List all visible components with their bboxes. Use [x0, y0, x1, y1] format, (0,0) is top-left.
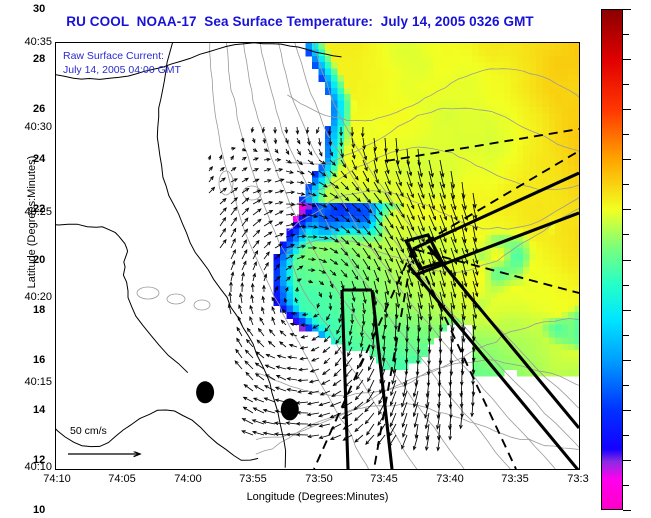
map-plot-area[interactable]: Raw Surface Current:July 14, 2005 04:00 … [55, 42, 580, 470]
colorbar[interactable] [601, 9, 623, 510]
colorbar-tick-23 [623, 184, 629, 185]
figure-canvas: RU COOL NOAA-17 Sea Surface Temperature:… [0, 0, 651, 518]
colorbar-tick-16 [623, 360, 631, 361]
x-tick-1: 74:05 [108, 473, 136, 485]
colorbar-label-12: 12 [33, 454, 45, 466]
x-tick-5: 73:45 [370, 473, 398, 485]
colorbar-label-18: 18 [33, 304, 45, 316]
colorbar-tick-13 [623, 435, 629, 436]
x-tick-6: 73:40 [436, 473, 464, 485]
map-graphics [56, 43, 579, 469]
colorbar-tick-28 [623, 59, 631, 60]
colorbar-label-24: 24 [33, 153, 45, 165]
annotation-line-1: Raw Surface Current: [63, 50, 164, 62]
x-tick-3: 73:55 [239, 473, 267, 485]
x-tick-0: 74:10 [43, 473, 71, 485]
x-axis-tick-labels: 74:10 74:05 74:00 73:55 73:50 73:45 73:4… [0, 473, 651, 493]
colorbar-tick-20 [623, 260, 631, 261]
scale-label: 50 cm/s [70, 425, 107, 437]
colorbar-gradient [602, 10, 622, 509]
station-marker-0 [196, 381, 214, 403]
colorbar-tick-19 [623, 285, 629, 286]
colorbar-label-20: 20 [33, 254, 45, 266]
colorbar-label-16: 16 [33, 354, 45, 366]
colorbar-label-30: 30 [33, 3, 45, 15]
x-tick-7: 73:35 [501, 473, 529, 485]
station-marker-1 [281, 398, 299, 420]
y-tick-0: 40:35 [6, 36, 52, 48]
colorbar-label-22: 22 [33, 203, 45, 215]
colorbar-tick-27 [623, 84, 629, 85]
colorbar-tick-22 [623, 209, 631, 210]
colorbar-tick-26 [623, 109, 631, 110]
x-tick-4: 73:50 [305, 473, 333, 485]
colorbar-label-28: 28 [33, 53, 45, 65]
x-tick-8: 73:3 [567, 473, 588, 485]
colorbar-tick-30 [623, 9, 631, 10]
x-tick-2: 74:00 [174, 473, 202, 485]
colorbar-label-26: 26 [33, 103, 45, 115]
annotation-line-2: July 14, 2005 04:00 GMT [63, 64, 181, 76]
colorbar-tick-15 [623, 385, 629, 386]
colorbar-tick-25 [623, 134, 629, 135]
colorbar-label-10: 10 [33, 504, 45, 516]
colorbar-tick-24 [623, 159, 631, 160]
colorbar-tick-17 [623, 335, 629, 336]
colorbar-tick-18 [623, 310, 631, 311]
x-axis-label: Longitude (Degrees:Minutes) [55, 491, 580, 503]
colorbar-tick-29 [623, 34, 629, 35]
colorbar-tick-11 [623, 485, 629, 486]
colorbar-label-14: 14 [33, 404, 45, 416]
current-annotation: Raw Surface Current:July 14, 2005 04:00 … [63, 49, 181, 77]
colorbar-tick-10 [623, 510, 631, 511]
colorbar-tick-21 [623, 234, 629, 235]
y-tick-4: 40:15 [6, 376, 52, 388]
colorbar-tick-12 [623, 460, 631, 461]
page-title: RU COOL NOAA-17 Sea Surface Temperature:… [0, 14, 600, 29]
colorbar-tick-14 [623, 410, 631, 411]
